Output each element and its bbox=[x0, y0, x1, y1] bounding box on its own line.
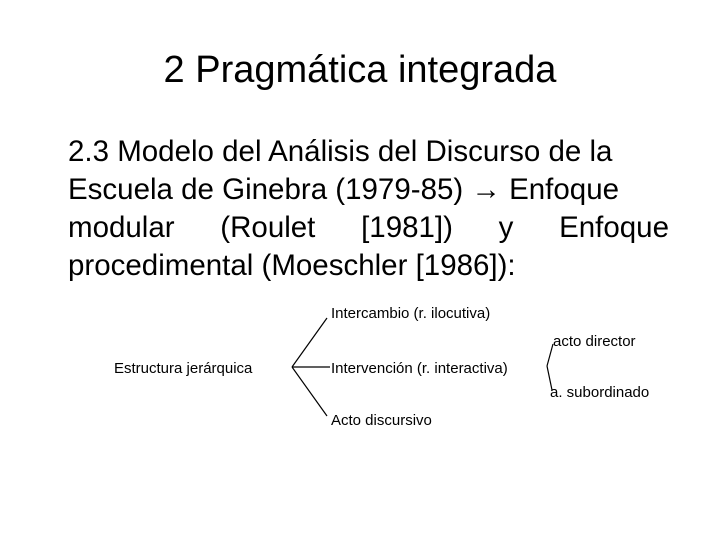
body-line-3-word-5: Enfoque bbox=[559, 209, 669, 247]
page-title: 2 Pragmática integrada bbox=[40, 48, 680, 92]
slide-canvas: 2 Pragmática integrada 2.3 Modelo del An… bbox=[0, 0, 720, 540]
connector-root-to-acto-discursivo bbox=[292, 367, 327, 416]
diagram-node-intercambio: Intercambio (r. ilocutiva) bbox=[331, 305, 490, 323]
diagram-node-acto-discursivo: Acto discursivo bbox=[331, 412, 432, 430]
body-line-3: modular (Roulet [1981]) y Enfoque bbox=[68, 209, 669, 247]
body-line-3-word-2: (Roulet bbox=[220, 209, 315, 247]
body-line-3-word-3: [1981]) bbox=[361, 209, 453, 247]
diagram-node-intervencion: Intervención (r. interactiva) bbox=[331, 360, 508, 378]
body-line-4: procedimental (Moeschler [1986]): bbox=[68, 247, 669, 285]
body-line-1: 2.3 Modelo del Análisis del Discurso de … bbox=[68, 133, 669, 171]
body-paragraph: 2.3 Modelo del Análisis del Discurso de … bbox=[68, 133, 669, 285]
connector-root-to-intercambio bbox=[292, 318, 327, 367]
diagram-node-estructura-jerarquica: Estructura jerárquica bbox=[114, 360, 252, 378]
body-line-3-word-1: modular bbox=[68, 209, 175, 247]
body-line-2: Escuela de Ginebra (1979-85) → Enfoque bbox=[68, 171, 669, 209]
body-line-3-word-4: y bbox=[499, 209, 514, 247]
diagram-node-acto-director: acto director bbox=[553, 333, 636, 351]
diagram-node-a-subordinado: a. subordinado bbox=[550, 384, 649, 402]
